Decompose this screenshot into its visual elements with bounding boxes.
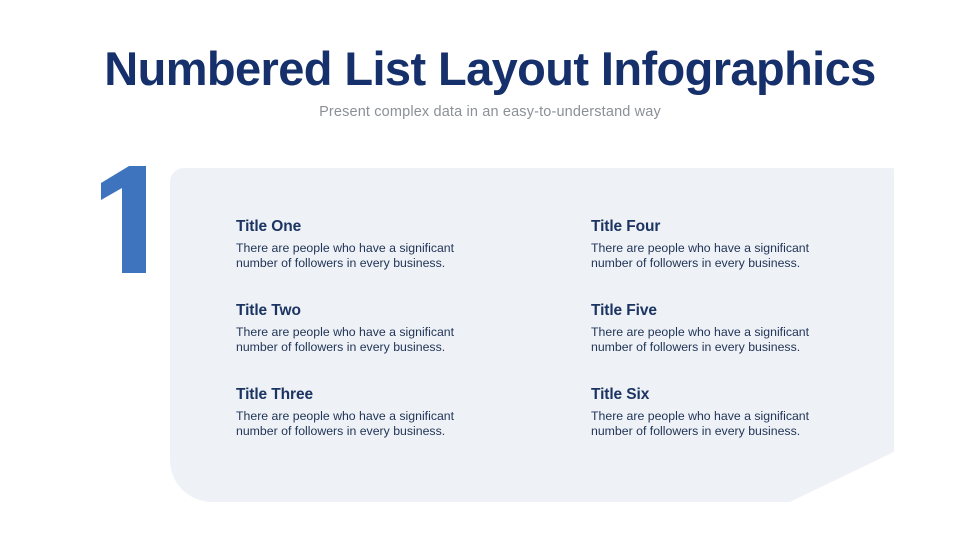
item-title: Title One (236, 218, 575, 236)
item-title: Title Four (591, 218, 880, 236)
item-title: Title Three (236, 386, 575, 404)
item-title: Title Six (591, 386, 880, 404)
list-item[interactable]: Title Three There are people who have a … (236, 386, 591, 470)
list-item[interactable]: Title One There are people who have a si… (236, 218, 591, 302)
list-item[interactable]: Title Four There are people who have a s… (591, 218, 896, 302)
item-description: There are people who have a significant … (591, 409, 843, 440)
page-title: Numbered List Layout Infographics (0, 44, 980, 93)
item-description: There are people who have a significant … (236, 409, 488, 440)
numeral-one-graphic (96, 166, 172, 276)
item-description: There are people who have a significant … (591, 241, 843, 272)
page-subtitle: Present complex data in an easy-to-under… (0, 104, 980, 120)
numeral-one-shape (101, 166, 146, 273)
item-title: Title Two (236, 302, 575, 320)
list-item[interactable]: Title Two There are people who have a si… (236, 302, 591, 386)
infographic-slide: Numbered List Layout Infographics Presen… (0, 0, 980, 551)
item-description: There are people who have a significant … (236, 325, 488, 356)
items-grid: Title One There are people who have a si… (236, 218, 896, 478)
item-description: There are people who have a significant … (236, 241, 488, 272)
list-item[interactable]: Title Six There are people who have a si… (591, 386, 896, 470)
item-title: Title Five (591, 302, 880, 320)
list-item[interactable]: Title Five There are people who have a s… (591, 302, 896, 386)
item-description: There are people who have a significant … (591, 325, 843, 356)
numeral-one-icon (96, 166, 172, 276)
slide-header: Numbered List Layout Infographics Presen… (0, 44, 980, 120)
